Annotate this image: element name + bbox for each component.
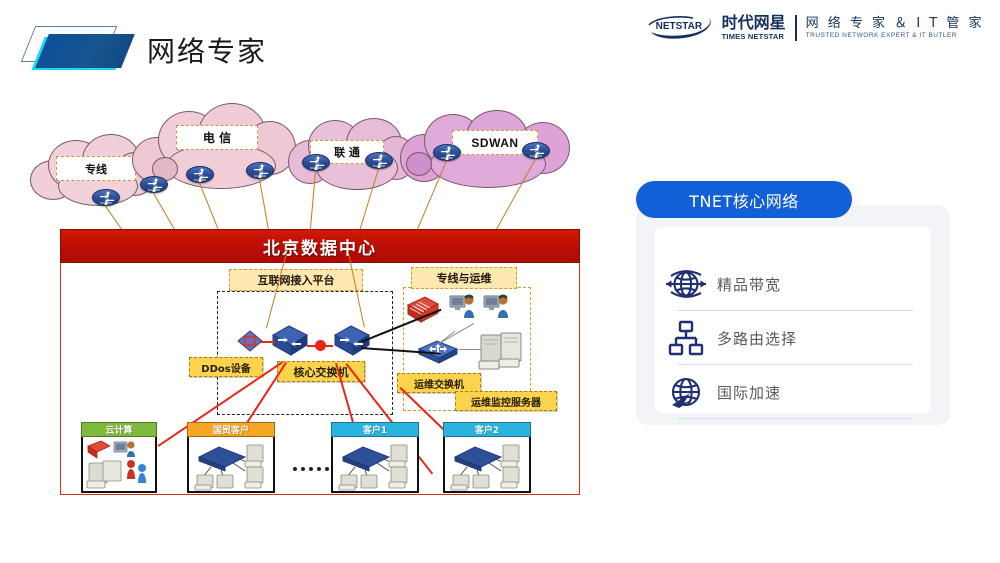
- router-label: ROUTER: [141, 189, 167, 192]
- page-header: 网络专家 NETSTAR 时代网星 TIMES NETSTAR 网 络 专 家 …: [0, 0, 1000, 92]
- client-label-cloud: 云计算: [81, 422, 157, 437]
- datacenter-body: 互联网接入平台 专线与运维 DD: [60, 263, 580, 495]
- client-guomao-contents: [189, 437, 277, 495]
- router-label: ROUTER: [93, 202, 119, 205]
- om-switch-to-server-link: [459, 349, 481, 350]
- globe-accelerate-icon: [655, 372, 717, 412]
- page-title: 网络专家: [147, 30, 267, 70]
- operator-workstation-1: [449, 291, 479, 321]
- datacenter-title: 北京数据中心: [263, 234, 377, 259]
- router-label: ROUTER: [187, 179, 213, 182]
- interlink-node: [315, 340, 326, 351]
- router-node: ROUTER: [140, 176, 168, 193]
- router-label: ROUTER: [523, 155, 549, 158]
- device-label-om-switch: 运维交换机: [397, 373, 481, 393]
- operator-workstation-2: [483, 291, 513, 321]
- network-topology-diagram: 专线 电 信 联 通: [14, 96, 614, 536]
- deck-logo-icon: [22, 26, 134, 74]
- router-label: ROUTER: [434, 157, 460, 160]
- feature-row-routing[interactable]: 多路由选择: [655, 311, 913, 365]
- router-node: ROUTER: [522, 142, 550, 159]
- brand-lockup: NETSTAR 时代网星 TIMES NETSTAR 网 络 专 家 ＆ I T…: [647, 11, 984, 45]
- brand-name-cn-block: 时代网星 TIMES NETSTAR: [722, 15, 786, 41]
- brand-divider: [795, 15, 797, 41]
- om-monitor-server-icon: [477, 331, 529, 373]
- feature-row-bandwidth[interactable]: 精品带宽: [655, 257, 913, 311]
- router-node: ROUTER: [92, 189, 120, 206]
- zone-label-internet: 互联网接入平台: [229, 269, 363, 291]
- brand-name-en: TIMES NETSTAR: [722, 33, 786, 41]
- brand-tagline-cn: 网 络 专 家 ＆ I T 管 家: [806, 17, 984, 30]
- feature-label-routing: 多路由选择: [717, 328, 797, 349]
- client-label-2: 客户2: [443, 422, 531, 437]
- client-cloud-contents: [83, 437, 159, 495]
- tnet-core-network-panel: TNET核心网络 精品带宽: [636, 181, 950, 443]
- feature-divider: [677, 418, 913, 419]
- client-label-1: 客户1: [331, 422, 419, 437]
- device-label-om-server: 运维监控服务器: [455, 391, 557, 411]
- router-node: ROUTER: [433, 144, 461, 161]
- device-label-ddos: DDos设备: [189, 357, 263, 377]
- cloud-label-2: 电 信: [176, 125, 258, 150]
- feature-label-bandwidth: 精品带宽: [717, 274, 781, 295]
- netstar-wordmark: NETSTAR: [656, 21, 702, 32]
- brand-tagline-en: TRUSTED NETWORK EXPERT & IT BUTLER: [806, 33, 984, 40]
- feature-label-acceleration: 国际加速: [717, 382, 781, 403]
- router-node: ROUTER: [302, 154, 330, 171]
- client-box-guomao: 国贸客户: [187, 435, 275, 493]
- router-node: ROUTER: [186, 166, 214, 183]
- client-1-contents: [333, 437, 421, 495]
- router-label: ROUTER: [303, 167, 329, 170]
- client-box-1: 客户1: [331, 435, 419, 493]
- brand-tagline-block: 网 络 专 家 ＆ I T 管 家 TRUSTED NETWORK EXPERT…: [806, 17, 984, 40]
- core-switch-a: [267, 323, 311, 357]
- brand-name-cn: 时代网星: [722, 15, 786, 31]
- router-label: ROUTER: [247, 175, 273, 178]
- globe-bandwidth-icon: [655, 264, 717, 304]
- datacenter-title-bar: 北京数据中心: [60, 229, 580, 263]
- client-box-2: 客户2: [443, 435, 531, 493]
- netstar-swoosh-icon: NETSTAR: [647, 15, 715, 41]
- panel-badge-label: TNET核心网络: [689, 188, 799, 212]
- ddos-device-icon: [237, 330, 263, 352]
- router-label: ROUTER: [366, 165, 392, 168]
- client-label-guomao: 国贸客户: [187, 422, 275, 437]
- panel-badge[interactable]: TNET核心网络: [636, 181, 852, 218]
- feature-row-acceleration[interactable]: 国际加速: [655, 365, 913, 419]
- cloud-label-1: 专线: [56, 156, 136, 181]
- router-node: ROUTER: [246, 162, 274, 179]
- router-node: ROUTER: [365, 152, 393, 169]
- client-2-contents: [445, 437, 533, 495]
- ddos-to-switch-link: [261, 341, 275, 343]
- zone-label-om: 专线与运维: [411, 267, 517, 289]
- client-box-cloud: 云计算: [81, 435, 157, 493]
- network-tree-icon: [655, 318, 717, 358]
- logo-sheet-blue: [35, 34, 135, 68]
